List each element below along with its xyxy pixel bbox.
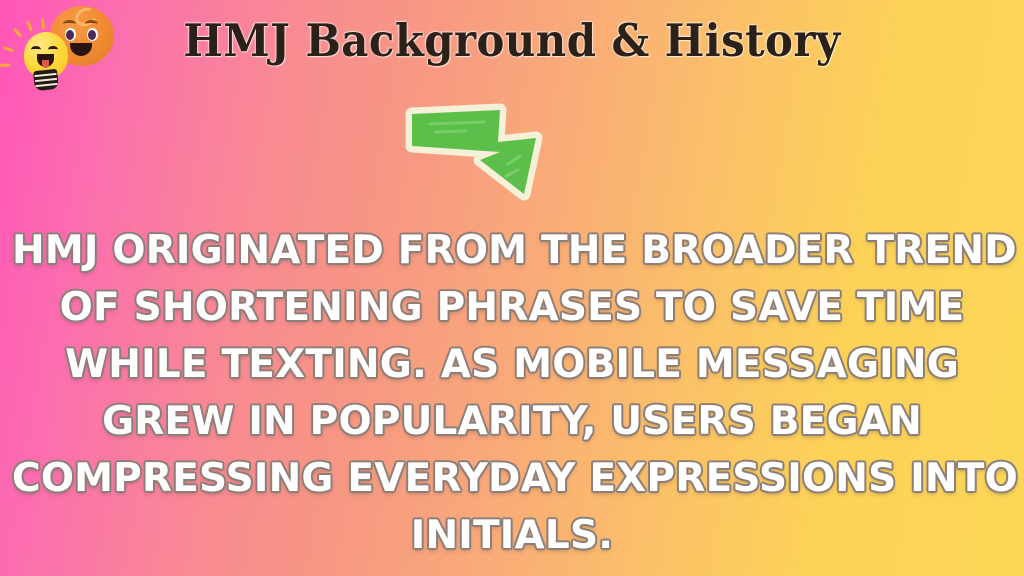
body-line: COMPRESSING EVERYDAY EXPRESSIONS INTO (12, 450, 1012, 507)
body-line: HMJ ORIGINATED FROM THE BROADER TREND (12, 222, 1012, 279)
body-line: OF SHORTENING PHRASES TO SAVE TIME (12, 279, 1012, 336)
bulb-ray-1 (13, 28, 23, 38)
body-paragraph: HMJ ORIGINATED FROM THE BROADER TREND OF… (12, 222, 1012, 564)
body-line: INITIALS. (12, 507, 1012, 564)
body-line: GREW IN POPULARITY, USERS BEGAN (12, 393, 1012, 450)
bulb-ray-4 (3, 46, 14, 53)
page-title: HMJ Background & History (36, 14, 988, 67)
body-line: WHILE TEXTING. AS MOBILE MESSAGING (12, 336, 1012, 393)
lightbulb-base-icon (33, 69, 59, 91)
slide-canvas: HMJ Background & History HMJ ORIGINATED … (0, 0, 1024, 576)
bulb-ray-2 (26, 20, 33, 31)
hand-drawn-arrow-icon (396, 98, 572, 210)
bulb-ray-5 (0, 64, 11, 67)
